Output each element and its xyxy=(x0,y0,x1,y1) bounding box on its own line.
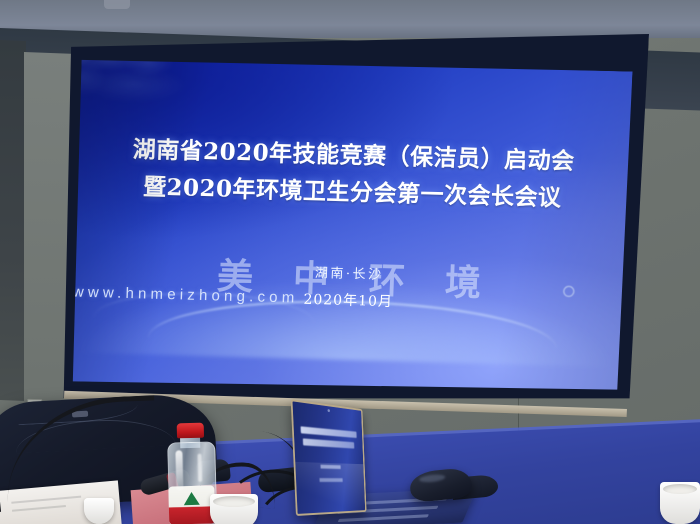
keyboard-row xyxy=(338,514,429,522)
bottle-logo-icon xyxy=(183,492,199,505)
mouse-highlight xyxy=(419,474,446,484)
slide-date: 2020年10月 xyxy=(303,289,393,311)
bottle-cap xyxy=(177,423,204,439)
projection-screen: 湖南省2020年技能竞赛（保洁员）启动会 暨2020年环境卫生分会第一次会长会议… xyxy=(55,18,649,413)
bottle-highlight xyxy=(175,450,183,490)
webcam-icon xyxy=(328,409,330,412)
laptop-slide-title-line-1 xyxy=(301,426,357,438)
laptop-screen xyxy=(291,399,367,516)
tea-cup xyxy=(210,494,258,524)
left-wall-dark-strip xyxy=(0,40,26,401)
microphone-cable xyxy=(0,390,120,512)
screen-vignette xyxy=(70,57,633,397)
water-bottle xyxy=(167,423,216,524)
screen-surface: 湖南省2020年技能竞赛（保洁员）启动会 暨2020年环境卫生分会第一次会长会议… xyxy=(70,57,633,397)
bottle-highlight xyxy=(197,454,202,482)
ceiling-vent xyxy=(104,0,130,9)
laptop-screen-glare xyxy=(295,462,365,514)
tea-cup xyxy=(660,482,700,524)
conference-room-photo: 湖南省2020年技能竞赛（保洁员）启动会 暨2020年环境卫生分会第一次会长会议… xyxy=(0,0,700,524)
laptop-slide-title-line-2 xyxy=(303,438,354,448)
